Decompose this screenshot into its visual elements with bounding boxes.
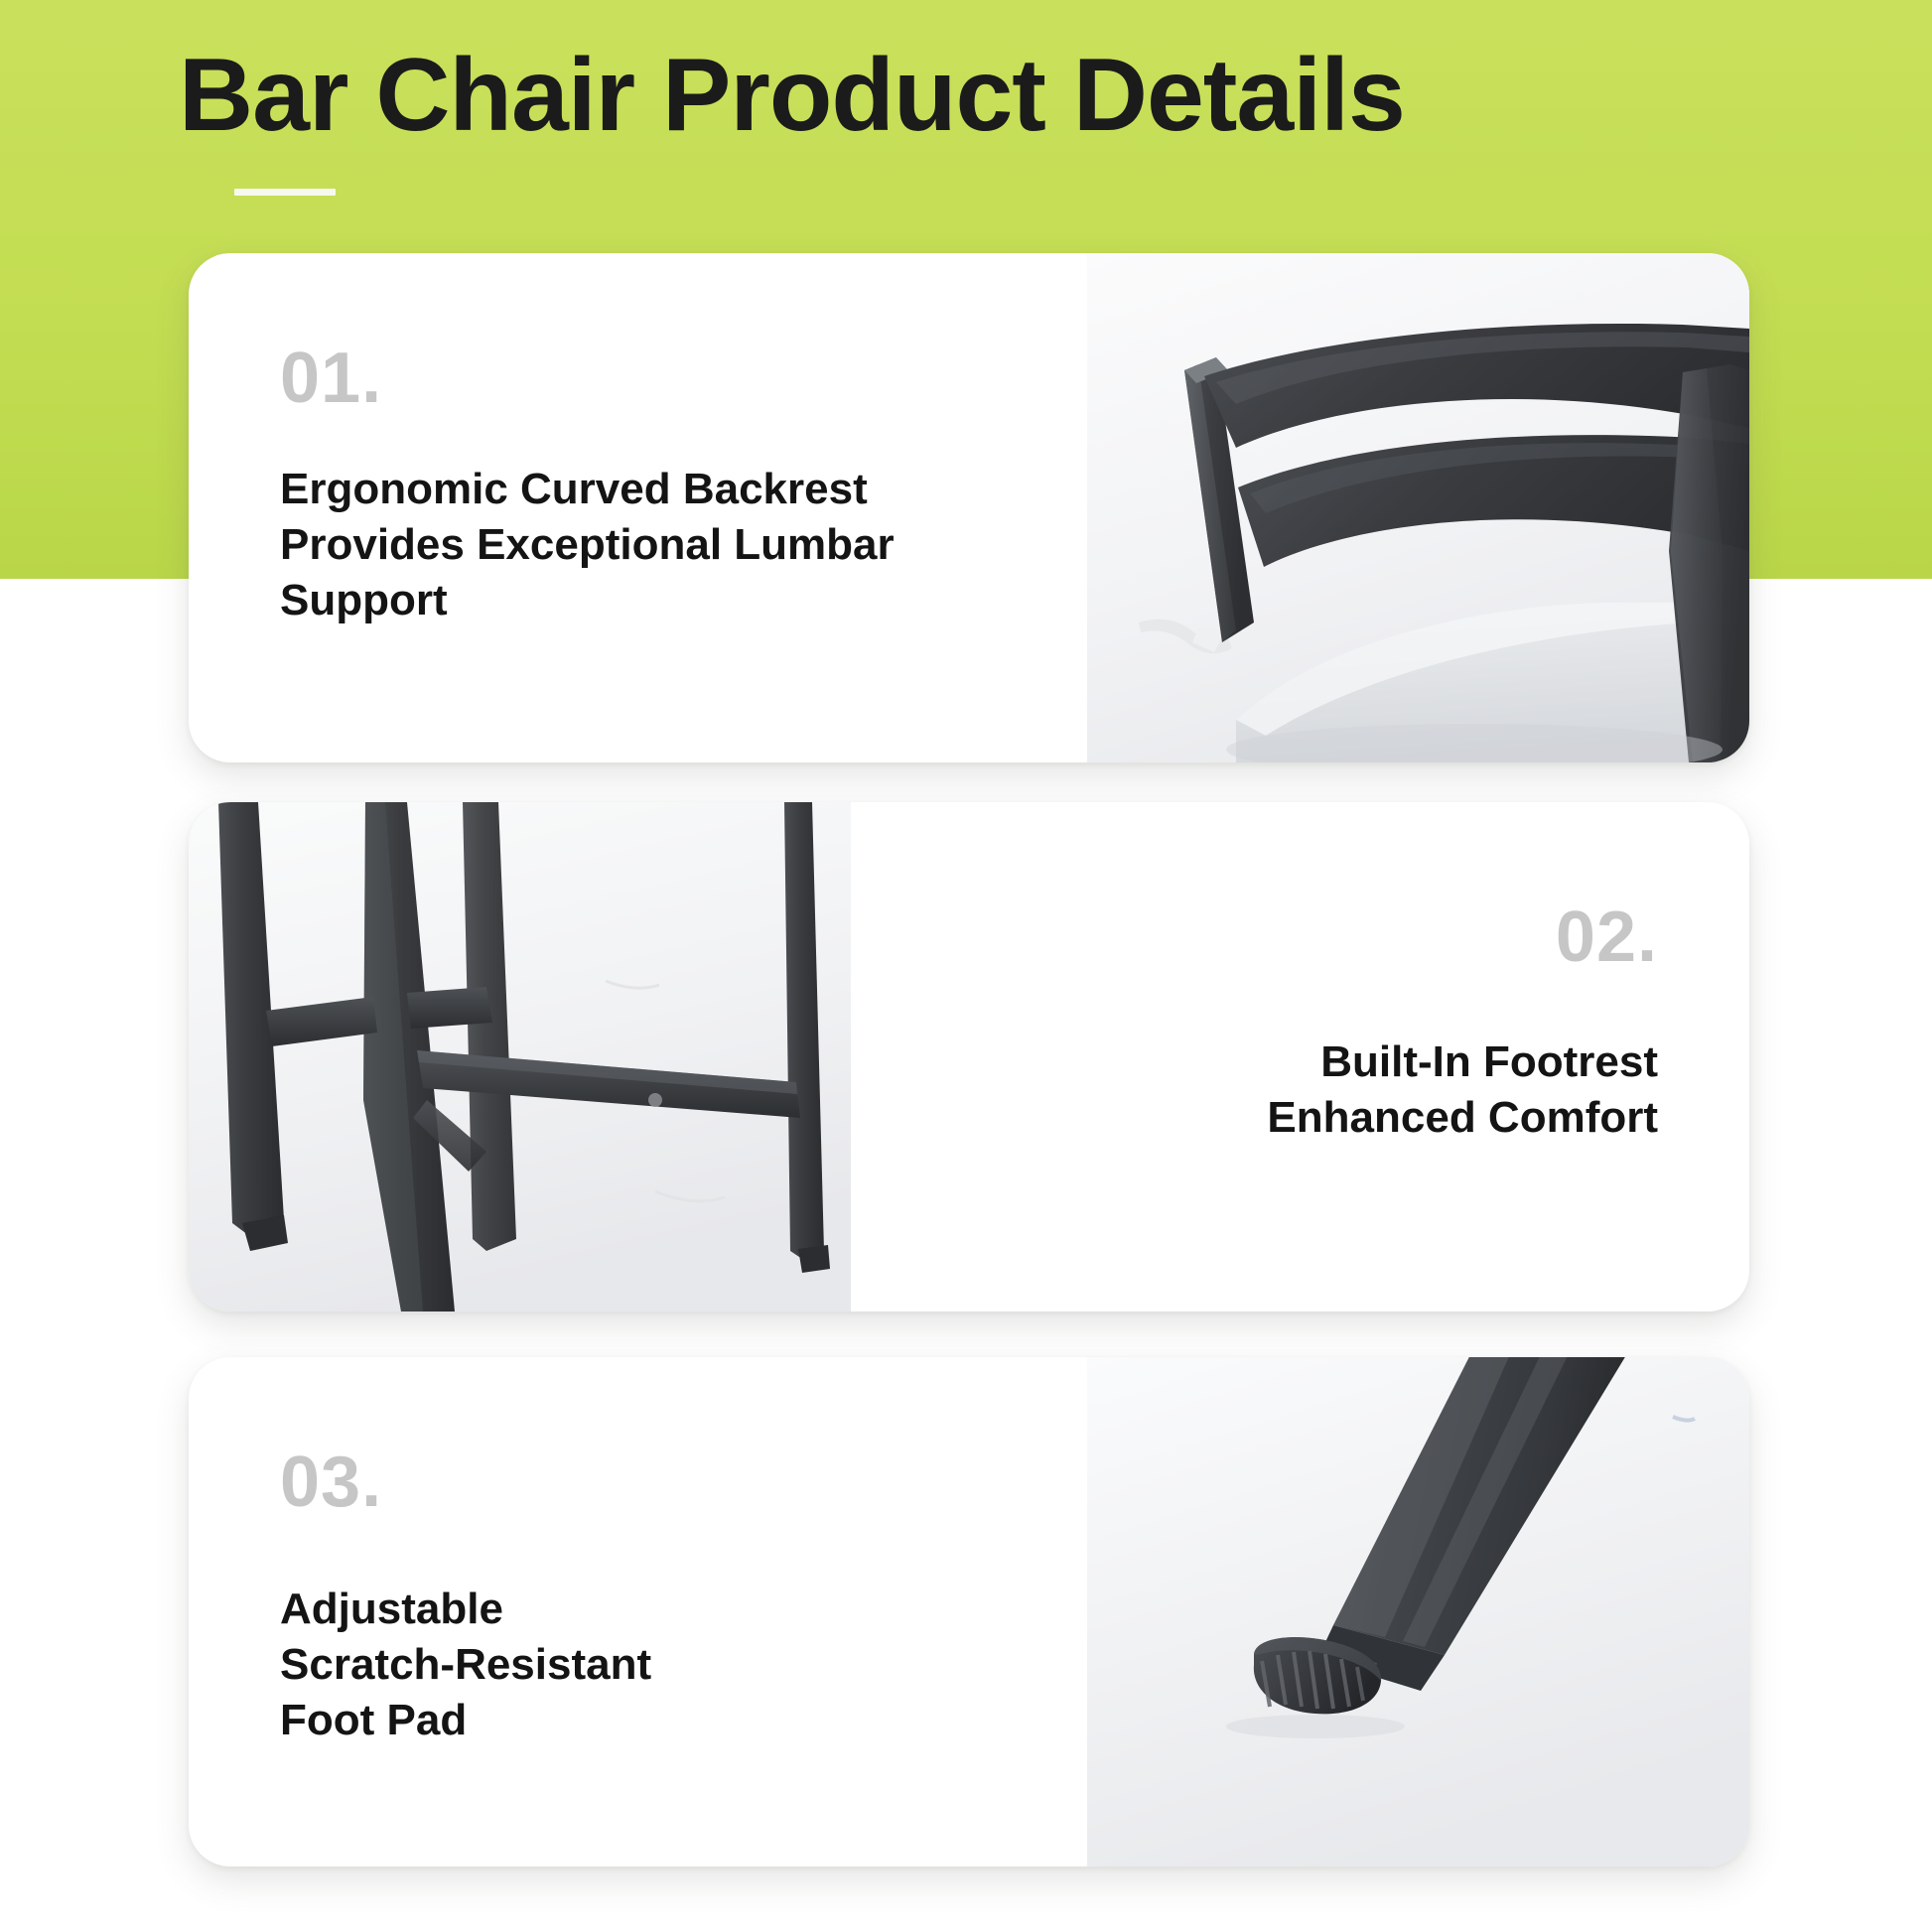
chair-footrest-photo: [189, 802, 851, 1311]
card-2-step-title: Built-In Footrest Enhanced Comfort: [1267, 1035, 1658, 1146]
foot-pad-photo: [1087, 1357, 1749, 1866]
card-2-step-number: 02.: [1556, 901, 1658, 973]
chair-backrest-photo: [1087, 253, 1749, 762]
card-3-step-number: 03.: [280, 1447, 382, 1518]
detail-card-1[interactable]: 01. Ergonomic Curved Backrest Provides E…: [189, 253, 1749, 762]
page-title: Bar Chair Product Details: [179, 44, 1405, 147]
card-1-step-number: 01.: [280, 343, 382, 414]
detail-card-2[interactable]: 02. Built-In Footrest Enhanced Comfort: [189, 802, 1749, 1311]
detail-card-3[interactable]: 03. Adjustable Scratch-Resistant Foot Pa…: [189, 1357, 1749, 1866]
card-3-text-block: 03. Adjustable Scratch-Resistant Foot Pa…: [189, 1357, 1087, 1866]
card-1-step-title: Ergonomic Curved Backrest Provides Excep…: [280, 462, 895, 628]
card-1-text-block: 01. Ergonomic Curved Backrest Provides E…: [189, 253, 1087, 762]
card-3-step-title: Adjustable Scratch-Resistant Foot Pad: [280, 1582, 651, 1748]
card-2-text-block: 02. Built-In Footrest Enhanced Comfort: [851, 802, 1749, 1311]
title-accent-bar: [234, 189, 336, 196]
